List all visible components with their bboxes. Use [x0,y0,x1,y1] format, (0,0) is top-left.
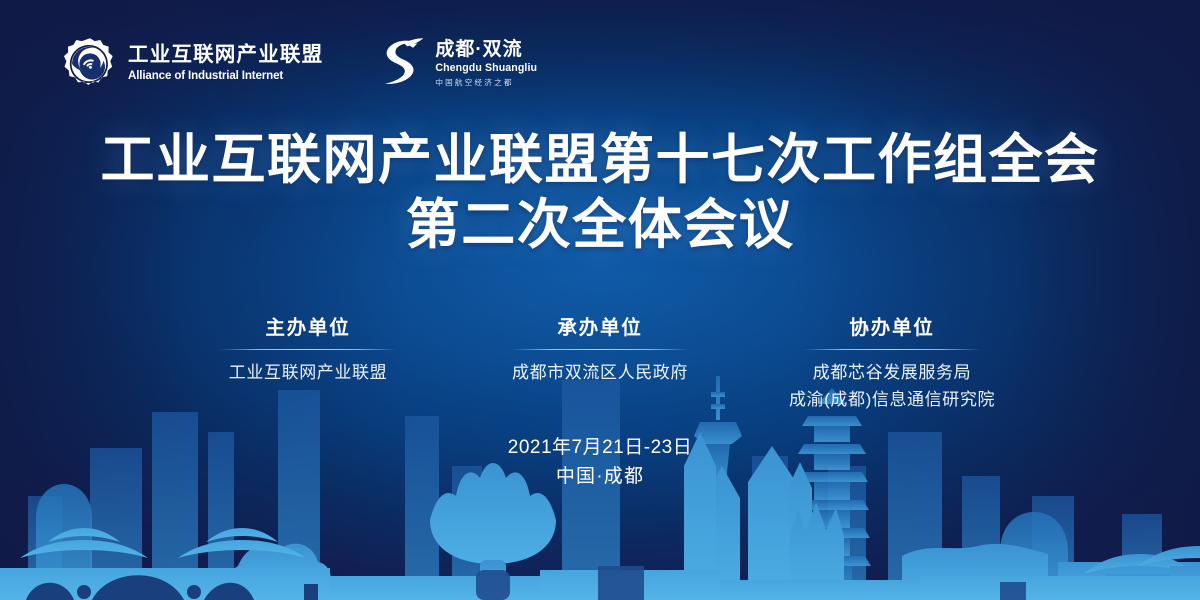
event-title: 工业互联网产业联盟第十七次工作组全会 第二次全体会议 [0,128,1200,258]
skyline-front-accents [476,566,1026,600]
logo-shuangliu-text: 成都·双流 Chengdu Shuangliu 中国航空经济之都 [435,40,537,88]
gear-wifi-icon [62,36,118,92]
organizer-role-label: 主办单位 [168,316,448,340]
organizer-name: 工业互联网产业联盟 [168,360,448,386]
logo-bar: 工业互联网产业联盟 Alliance of Industrial Interne… [62,36,537,92]
event-date: 2021年7月21日-23日 [0,434,1200,463]
organizer-divider [803,349,981,350]
organizer-divider [219,349,397,350]
logo-shuangliu-en: Chengdu Shuangliu [435,62,537,76]
event-place: 中国·成都 [0,463,1200,492]
logo-shuangliu-sub: 中国航空经济之都 [435,78,513,88]
skyline-front-layer [0,528,1200,600]
logo-chengdu-shuangliu: 成都·双流 Chengdu Shuangliu 中国航空经济之都 [376,36,537,92]
organizer-column-host: 主办单位 工业互联网产业联盟 [162,316,454,413]
organizer-divider [511,349,689,350]
event-title-line-2: 第二次全体会议 [0,193,1200,258]
organizer-column-undertaker: 承办单位 成都市双流区人民政府 [454,316,746,413]
logo-shuangliu-cn: 成都·双流 [435,40,522,61]
organizers-section: 主办单位 工业互联网产业联盟 承办单位 成都市双流区人民政府 协办单位 成都芯谷… [0,316,1200,413]
organizer-role-label: 承办单位 [460,316,740,340]
logo-alliance-of-industrial-internet: 工业互联网产业联盟 Alliance of Industrial Interne… [62,36,323,92]
organizer-column-coorganizer: 协办单位 成都芯谷发展服务局 成渝(成都)信息通信研究院 [746,316,1038,413]
skyline-bridge-arches [26,575,318,600]
organizer-name: 成都芯谷发展服务局 [752,360,1032,386]
event-meta: 2021年7月21日-23日 中国·成都 [0,434,1200,491]
event-title-line-1: 工业互联网产业联盟第十七次工作组全会 [0,128,1200,193]
logo-alliance-cn: 工业互联网产业联盟 [128,44,323,67]
logo-alliance-text: 工业互联网产业联盟 Alliance of Industrial Interne… [128,44,323,83]
organizer-name: 成都市双流区人民政府 [460,360,740,386]
conference-banner: 工业互联网产业联盟 Alliance of Industrial Interne… [0,0,1200,600]
organizer-role-label: 协办单位 [752,316,1032,340]
organizer-name: 成渝(成都)信息通信研究院 [752,387,1032,413]
s-airplane-icon [376,36,428,92]
logo-alliance-en: Alliance of Industrial Internet [128,69,323,83]
